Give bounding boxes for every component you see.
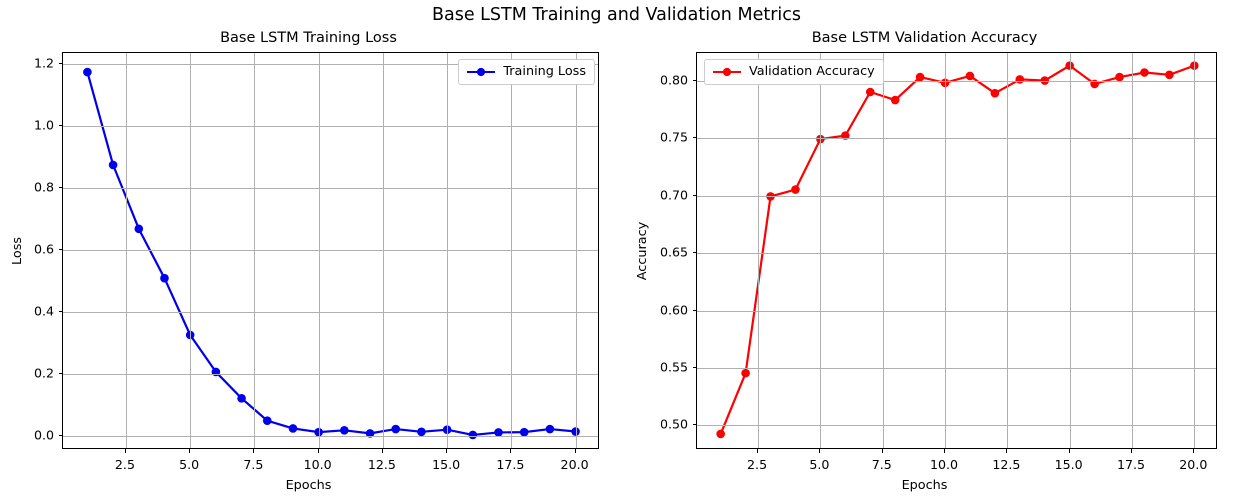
y-tick-mark: [693, 310, 697, 311]
data-point-marker: [135, 225, 144, 234]
y-tick-label: 0.8: [0, 180, 54, 193]
gridline-horizontal: [63, 374, 598, 375]
data-point-marker: [891, 96, 900, 105]
gridline-vertical: [1007, 53, 1008, 448]
gridline-horizontal: [697, 138, 1216, 139]
y-tick-label: 0.75: [630, 131, 688, 144]
legend-validation-accuracy[interactable]: Validation Accuracy: [704, 59, 884, 85]
x-tick-mark: [575, 449, 576, 453]
legend-training-loss[interactable]: Training Loss: [458, 59, 595, 85]
y-tick-label: 0.50: [630, 418, 688, 431]
data-point-marker: [1165, 71, 1174, 80]
gridline-vertical: [758, 53, 759, 448]
gridline-vertical: [254, 53, 255, 448]
series-training-loss: [63, 53, 599, 449]
chart-title-training-loss: Base LSTM Training Loss: [0, 29, 617, 47]
legend-marker-validation-accuracy: [712, 66, 742, 78]
y-tick-mark: [59, 311, 63, 312]
gridline-vertical: [883, 53, 884, 448]
plot-area-validation-accuracy: [696, 52, 1217, 449]
legend-marker-training-loss: [466, 66, 496, 78]
x-tick-mark: [1006, 449, 1007, 453]
gridline-vertical: [383, 53, 384, 448]
x-axis-label-epochs-left: Epochs: [0, 478, 617, 493]
x-tick-label: 7.5: [243, 458, 263, 471]
x-tick-label: 2.5: [747, 458, 767, 471]
gridline-vertical: [1194, 53, 1195, 448]
x-tick-label: 5.0: [179, 458, 199, 471]
y-tick-label: 0.70: [630, 188, 688, 201]
gridline-horizontal: [697, 425, 1216, 426]
chart-title-validation-accuracy: Base LSTM Validation Accuracy: [616, 29, 1233, 47]
data-point-marker: [109, 161, 118, 170]
legend-label-validation-accuracy: Validation Accuracy: [749, 65, 875, 79]
data-point-marker: [340, 426, 349, 435]
gridline-horizontal: [697, 253, 1216, 254]
x-tick-mark: [125, 449, 126, 453]
y-tick-mark: [693, 367, 697, 368]
data-point-marker: [716, 430, 725, 439]
gridline-horizontal: [63, 250, 598, 251]
plot-area-training-loss: [62, 52, 599, 449]
data-point-marker: [469, 431, 478, 440]
x-tick-label: 17.5: [1117, 458, 1145, 471]
x-tick-mark: [253, 449, 254, 453]
chart-panel-validation-accuracy: Base LSTM Validation Accuracy Accuracy E…: [616, 0, 1233, 498]
x-tick-mark: [757, 449, 758, 453]
x-tick-mark: [944, 449, 945, 453]
x-tick-label: 5.0: [809, 458, 829, 471]
data-point-marker: [83, 68, 92, 77]
y-tick-label: 0.2: [0, 367, 54, 380]
data-point-marker: [1140, 68, 1149, 77]
gridline-horizontal: [63, 126, 598, 127]
y-tick-mark: [59, 373, 63, 374]
x-tick-label: 12.5: [992, 458, 1020, 471]
y-tick-label: 0.80: [630, 74, 688, 87]
y-tick-label: 0.60: [630, 303, 688, 316]
x-tick-label: 10.0: [930, 458, 958, 471]
series-validation-accuracy: [697, 53, 1217, 449]
y-tick-mark: [59, 125, 63, 126]
data-point-marker: [991, 89, 1000, 98]
y-tick-label: 0.4: [0, 305, 54, 318]
y-tick-mark: [693, 80, 697, 81]
x-tick-label: 15.0: [432, 458, 460, 471]
y-tick-mark: [693, 252, 697, 253]
data-point-marker: [263, 416, 272, 425]
data-point-marker: [160, 274, 169, 283]
gridline-horizontal: [697, 196, 1216, 197]
data-point-marker: [1016, 75, 1025, 84]
x-tick-label: 12.5: [368, 458, 396, 471]
x-tick-mark: [510, 449, 511, 453]
x-tick-mark: [1131, 449, 1132, 453]
y-tick-label: 0.55: [630, 360, 688, 373]
data-line: [721, 66, 1195, 434]
x-tick-label: 17.5: [496, 458, 524, 471]
y-tick-label: 1.2: [0, 56, 54, 69]
gridline-horizontal: [63, 312, 598, 313]
gridline-vertical: [447, 53, 448, 448]
x-tick-mark: [189, 449, 190, 453]
gridline-vertical: [576, 53, 577, 448]
y-tick-mark: [59, 63, 63, 64]
data-point-marker: [546, 425, 555, 434]
x-tick-label: 10.0: [304, 458, 332, 471]
x-tick-label: 20.0: [1179, 458, 1207, 471]
x-tick-mark: [318, 449, 319, 453]
y-tick-mark: [693, 195, 697, 196]
data-point-marker: [391, 425, 400, 434]
gridline-vertical: [190, 53, 191, 448]
gridline-horizontal: [697, 311, 1216, 312]
x-tick-label: 20.0: [561, 458, 589, 471]
x-axis-label-epochs-right: Epochs: [616, 478, 1233, 493]
x-tick-label: 7.5: [872, 458, 892, 471]
chart-panel-training-loss: Base LSTM Training Loss Loss Epochs Trai…: [0, 0, 617, 498]
data-point-marker: [417, 428, 426, 437]
gridline-horizontal: [63, 188, 598, 189]
gridline-horizontal: [63, 436, 598, 437]
x-tick-mark: [382, 449, 383, 453]
figure-canvas: Base LSTM Training and Validation Metric…: [0, 0, 1233, 498]
data-point-marker: [237, 394, 246, 403]
y-tick-mark: [693, 137, 697, 138]
x-tick-label: 15.0: [1055, 458, 1083, 471]
legend-label-training-loss: Training Loss: [503, 65, 586, 79]
gridline-vertical: [1132, 53, 1133, 448]
y-tick-label: 0.6: [0, 242, 54, 255]
x-tick-mark: [819, 449, 820, 453]
x-tick-label: 2.5: [115, 458, 135, 471]
y-tick-label: 1.0: [0, 118, 54, 131]
x-tick-mark: [446, 449, 447, 453]
y-tick-label: 0.0: [0, 429, 54, 442]
y-tick-mark: [59, 187, 63, 188]
x-tick-mark: [882, 449, 883, 453]
gridline-vertical: [820, 53, 821, 448]
gridline-vertical: [1070, 53, 1071, 448]
gridline-vertical: [945, 53, 946, 448]
gridline-vertical: [511, 53, 512, 448]
gridline-vertical: [126, 53, 127, 448]
y-tick-mark: [693, 424, 697, 425]
y-tick-mark: [59, 249, 63, 250]
data-point-marker: [791, 185, 800, 194]
data-point-marker: [289, 424, 298, 433]
data-point-marker: [741, 369, 750, 378]
y-tick-label: 0.65: [630, 246, 688, 259]
gridline-vertical: [319, 53, 320, 448]
y-tick-mark: [59, 435, 63, 436]
x-tick-mark: [1069, 449, 1070, 453]
gridline-horizontal: [697, 368, 1216, 369]
x-tick-mark: [1193, 449, 1194, 453]
data-point-marker: [966, 72, 975, 81]
data-point-marker: [866, 88, 875, 97]
